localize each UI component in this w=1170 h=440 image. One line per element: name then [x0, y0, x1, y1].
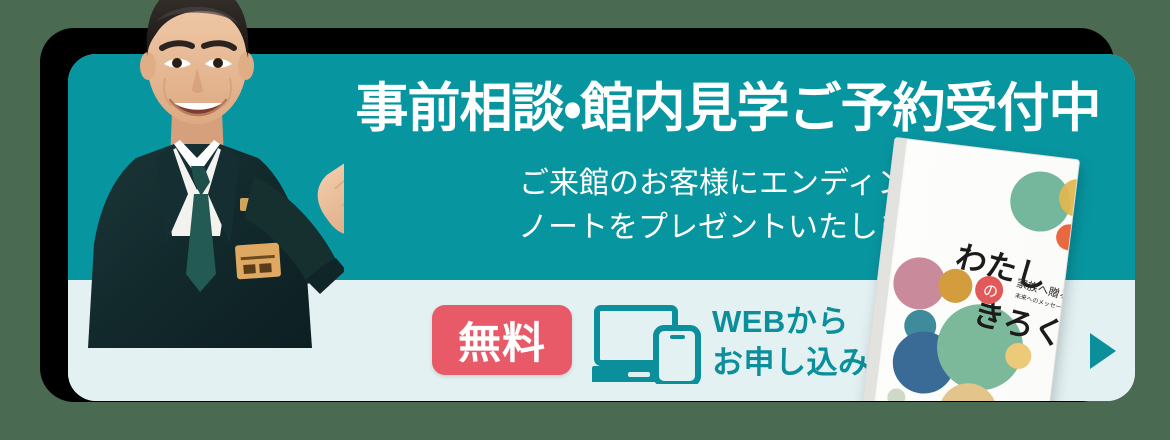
avatar [44, 0, 344, 348]
play-triangle-right-icon[interactable] [1090, 333, 1116, 369]
web-apply-line-1: WEBから [712, 302, 870, 343]
web-application-label: WEBから お申し込み [712, 302, 870, 384]
web-apply-line-2: お申し込み [712, 343, 870, 384]
svg-text:の: の [982, 281, 999, 301]
ending-note-booklet-image: わたし きろく の 家族へ贈る 未来へのメッセージ [846, 128, 1101, 401]
page-title: 事前相談・館内見学ご予約受付中 [333, 81, 1123, 137]
laptop-and-smartphone-icon [592, 304, 702, 384]
banner-stage: 事前相談・館内見学ご予約受付中 ご来館のお客様にエンディング ノートをプレゼント… [0, 0, 1170, 440]
status-badge-free: 無料 [432, 305, 572, 375]
